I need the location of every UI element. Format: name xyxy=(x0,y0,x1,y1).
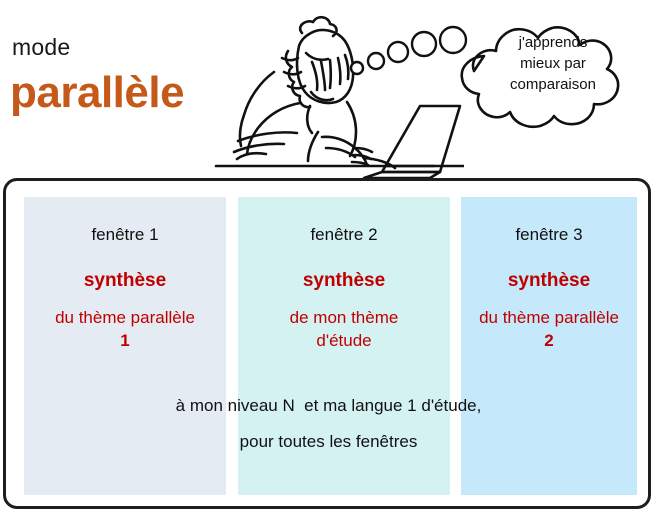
window-label-3: fenêtre 3 xyxy=(461,225,637,245)
window-label-2: fenêtre 2 xyxy=(238,225,450,245)
synthesis-label-1: synthèse xyxy=(24,270,226,292)
column-subtitle-3: du thème parallèle 2 xyxy=(461,306,637,352)
mode-label: mode xyxy=(12,34,70,61)
column-number-2: d'étude xyxy=(240,329,448,352)
column-subtitle-1: du thème parallèle 1 xyxy=(24,306,226,352)
thought-bubble-line-3: comparaison xyxy=(468,74,638,95)
synthesis-label-3: synthèse xyxy=(461,270,637,292)
column-subtitle-text-2: de mon thème xyxy=(290,308,399,327)
slide-canvas: mode parallèle xyxy=(0,0,657,515)
header-block: mode parallèle xyxy=(0,0,657,178)
column-number-3: 2 xyxy=(463,329,635,352)
column-subtitle-text-3: du thème parallèle xyxy=(479,308,619,327)
column-subtitle-text-1: du thème parallèle xyxy=(55,308,195,327)
window-column-1[interactable]: fenêtre 1 synthèse du thème parallèle 1 xyxy=(24,197,226,495)
mode-title: parallèle xyxy=(10,68,184,118)
window-column-2[interactable]: fenêtre 2 synthèse de mon thème d'étude xyxy=(238,197,450,495)
thought-bubble-text: j'apprends mieux par comparaison xyxy=(468,32,638,95)
thought-bubble-line-1: j'apprends xyxy=(468,32,638,53)
parallel-mode-panel: fenêtre 1 synthèse du thème parallèle 1 … xyxy=(3,178,651,509)
column-number-1: 1 xyxy=(26,329,224,352)
window-column-3[interactable]: fenêtre 3 synthèse du thème parallèle 2 xyxy=(461,197,637,495)
column-subtitle-2: de mon thème d'étude xyxy=(238,306,450,352)
synthesis-label-2: synthèse xyxy=(238,270,450,292)
window-label-1: fenêtre 1 xyxy=(24,225,226,245)
thought-bubble-line-2: mieux par xyxy=(468,53,638,74)
